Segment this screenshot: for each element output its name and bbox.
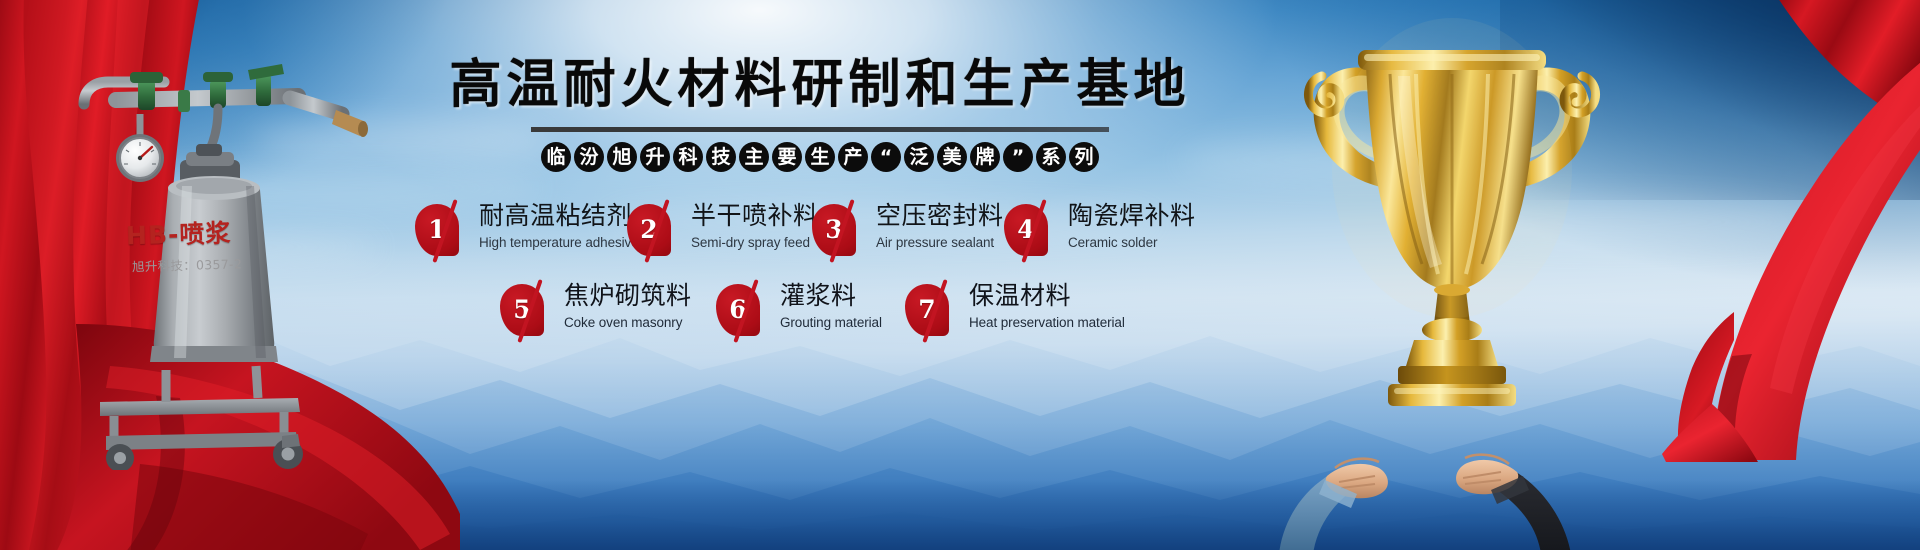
hands-holding-trophy (1275, 424, 1575, 550)
subtitle-char-badge: 技 (706, 142, 736, 172)
feature-name-en: Air pressure sealant (876, 235, 1004, 250)
feature-text-group: 焦炉砌筑料Coke oven masonry (564, 282, 692, 330)
subtitle-char-badge: 科 (673, 142, 703, 172)
feature-name-en: Coke oven masonry (564, 315, 692, 330)
subtitle-char-badge: 临 (541, 142, 571, 172)
promo-banner: HB-喷浆 旭升科技：0357-2 (0, 0, 1920, 550)
feature-badge-wrap: 2 (627, 202, 683, 266)
feature-text-group: 空压密封料Air pressure sealant (876, 202, 1004, 250)
feature-text-group: 保温材料Heat preservation material (969, 282, 1125, 330)
subtitle-char-badge: 旭 (607, 142, 637, 172)
feature-badge-wrap: 6 (716, 282, 772, 346)
subtitle-char-badge: 系 (1036, 142, 1066, 172)
feature-text-group: 半干喷补料Semi-dry spray feed (691, 202, 819, 250)
subtitle-char-badge: 生 (805, 142, 835, 172)
feature-name-cn: 陶瓷焊补料 (1068, 202, 1196, 230)
feature-item-1[interactable]: 1耐高温粘结剂High temperature adhesive (415, 202, 639, 266)
gold-trophy (1302, 18, 1602, 418)
feature-name-en: High temperature adhesive (479, 235, 639, 250)
feature-name-cn: 保温材料 (969, 282, 1125, 310)
feature-item-4[interactable]: 4陶瓷焊补料Ceramic solder (1004, 202, 1196, 266)
subtitle-char-badge: 列 (1069, 142, 1099, 172)
title-divider (531, 127, 1109, 132)
feature-text-group: 陶瓷焊补料Ceramic solder (1068, 202, 1196, 250)
feature-badge-wrap: 3 (812, 202, 868, 266)
page-title: 高温耐火材料研制和生产基地 (420, 58, 1220, 113)
subtitle-char-badge: 牌 (970, 142, 1000, 172)
feature-text-group: 灌浆料Grouting material (780, 282, 882, 330)
subtitle-char-badge: 泛 (904, 142, 934, 172)
feature-name-en: Grouting material (780, 315, 882, 330)
feature-name-en: Ceramic solder (1068, 235, 1196, 250)
feature-name-en: Semi-dry spray feed (691, 235, 819, 250)
subtitle-char-badge: “ (871, 142, 901, 172)
feature-badge-wrap: 1 (415, 202, 471, 266)
subtitle-char-badge: 产 (838, 142, 868, 172)
subtitle-char-badge: 升 (640, 142, 670, 172)
feature-item-2[interactable]: 2半干喷补料Semi-dry spray feed (627, 202, 819, 266)
feature-name-cn: 空压密封料 (876, 202, 1004, 230)
machine-brand-label: HB-喷浆 (126, 212, 307, 253)
feature-name-cn: 耐高温粘结剂 (479, 202, 639, 230)
subtitle-char-badge: 要 (772, 142, 802, 172)
subtitle-char-badge: 主 (739, 142, 769, 172)
subtitle-char-badge: ” (1003, 142, 1033, 172)
feature-name-cn: 半干喷补料 (691, 202, 819, 230)
subtitle-char-badge: 汾 (574, 142, 604, 172)
feature-badge-wrap: 5 (500, 282, 556, 346)
feature-item-5[interactable]: 5焦炉砌筑料Coke oven masonry (500, 282, 692, 346)
subtitle-badges: 临汾旭升科技主要生产“泛美牌”系列 (420, 142, 1220, 172)
feature-badge-wrap: 7 (905, 282, 961, 346)
feature-name-en: Heat preservation material (969, 315, 1125, 330)
feature-badge-wrap: 4 (1004, 202, 1060, 266)
feature-item-6[interactable]: 6灌浆料Grouting material (716, 282, 882, 346)
headline-block: 高温耐火材料研制和生产基地 临汾旭升科技主要生产“泛美牌”系列 (420, 58, 1220, 172)
feature-name-cn: 灌浆料 (780, 282, 882, 310)
subtitle-char-badge: 美 (937, 142, 967, 172)
feature-name-cn: 焦炉砌筑料 (564, 282, 692, 310)
feature-item-3[interactable]: 3空压密封料Air pressure sealant (812, 202, 1004, 266)
feature-text-group: 耐高温粘结剂High temperature adhesive (479, 202, 639, 250)
feature-item-7[interactable]: 7保温材料Heat preservation material (905, 282, 1125, 346)
